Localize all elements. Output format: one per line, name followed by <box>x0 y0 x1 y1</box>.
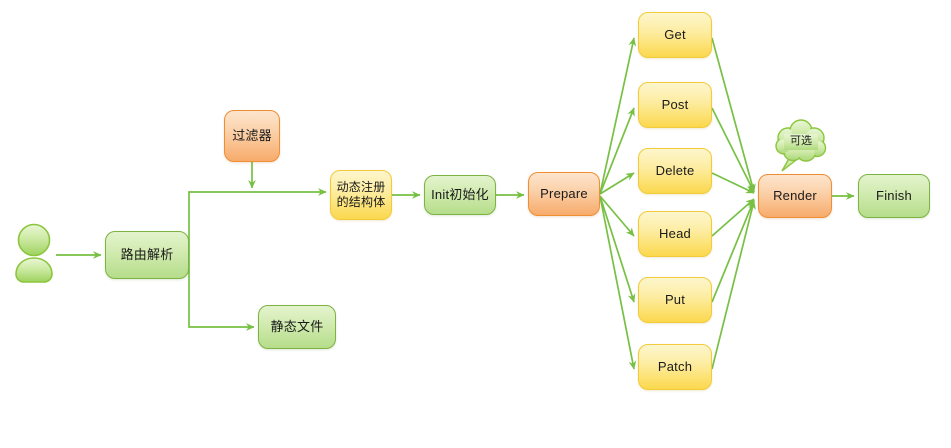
node-label: Get <box>660 27 690 43</box>
edge-prepare-head <box>600 196 634 236</box>
node-label: Patch <box>654 359 696 375</box>
edge-post-render <box>712 108 754 192</box>
actor-body-icon <box>16 258 52 282</box>
node-render[interactable]: Render <box>758 174 832 218</box>
cloud-shape-icon <box>770 118 832 180</box>
node-label: Delete <box>652 163 699 179</box>
flowchart-canvas: 可选 路由解析 过滤器 静态文件 动态注册 的结构体 Init初始化 Prepa… <box>0 0 951 448</box>
node-init[interactable]: Init初始化 <box>424 175 496 215</box>
user-actor <box>8 222 60 284</box>
node-label: Finish <box>872 188 916 204</box>
edge-put-render <box>712 200 754 302</box>
node-route-parsing[interactable]: 路由解析 <box>105 231 189 279</box>
node-label: 静态文件 <box>267 319 328 335</box>
node-finish[interactable]: Finish <box>858 174 930 218</box>
node-method-post[interactable]: Post <box>638 82 712 128</box>
node-static-files[interactable]: 静态文件 <box>258 305 336 349</box>
edge-prepare-put <box>600 196 634 302</box>
optional-cloud-callout: 可选 <box>770 118 832 180</box>
node-method-get[interactable]: Get <box>638 12 712 58</box>
node-label: Put <box>661 292 689 308</box>
node-label: Render <box>769 188 821 204</box>
node-label: Prepare <box>536 186 592 202</box>
node-label: 过滤器 <box>228 128 276 144</box>
actor-head-icon <box>19 225 50 256</box>
edge-prepare-get <box>600 38 634 194</box>
edge-delete-render <box>712 173 754 193</box>
node-method-head[interactable]: Head <box>638 211 712 257</box>
node-method-delete[interactable]: Delete <box>638 148 712 194</box>
node-label: 动态注册 的结构体 <box>333 180 390 210</box>
node-dynamic-struct[interactable]: 动态注册 的结构体 <box>330 170 392 220</box>
edge-prepare-delete <box>600 173 634 194</box>
edge-prepare-post <box>600 108 634 194</box>
node-label: Post <box>658 97 693 113</box>
node-prepare[interactable]: Prepare <box>528 172 600 216</box>
node-method-put[interactable]: Put <box>638 277 712 323</box>
node-label: 路由解析 <box>117 247 178 263</box>
edge-get-render <box>712 38 754 192</box>
edge-prepare-patch <box>600 196 634 369</box>
node-label: Head <box>655 226 695 242</box>
edge-route-static <box>189 255 254 327</box>
node-label: Init初始化 <box>427 187 493 203</box>
node-method-patch[interactable]: Patch <box>638 344 712 390</box>
edge-patch-render <box>712 201 754 369</box>
edge-route-struct <box>189 192 326 255</box>
edge-layer <box>0 0 951 448</box>
node-filter[interactable]: 过滤器 <box>224 110 280 162</box>
edge-head-render <box>712 199 754 236</box>
